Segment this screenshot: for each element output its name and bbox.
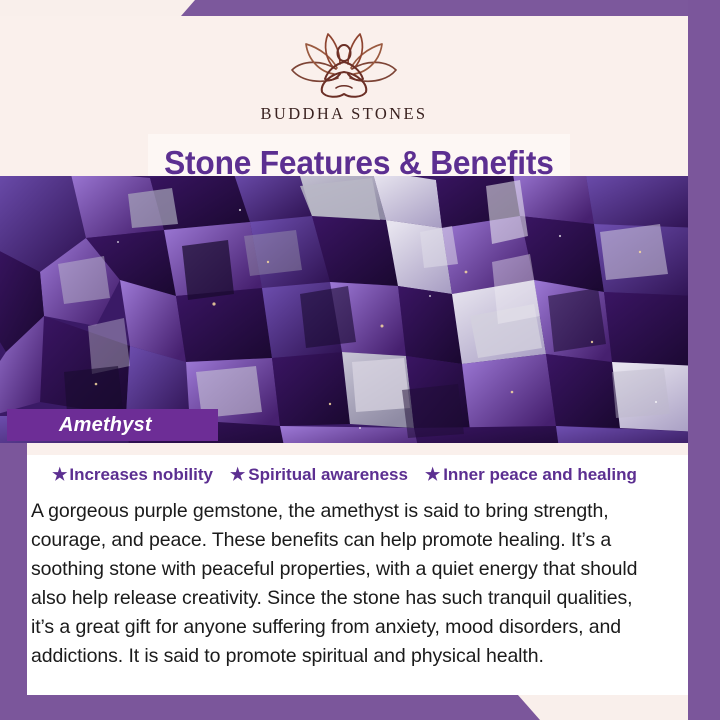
benefit-label: Inner peace and healing: [443, 465, 637, 485]
lotus-meditation-icon: [278, 24, 410, 102]
star-icon: ★: [425, 466, 440, 483]
brand-logo: BUDDHA STONES: [0, 24, 688, 124]
brand-name: BUDDHA STONES: [260, 104, 427, 124]
benefit-item-2: ★ Inner peace and healing: [425, 465, 637, 485]
crystal-cluster-graphic: [0, 176, 688, 443]
stone-name-band: Amethyst: [7, 409, 218, 441]
stone-name: Amethyst: [7, 414, 152, 437]
content-top-strip: [27, 443, 688, 455]
benefit-label: Increases nobility: [69, 465, 213, 485]
content-panel: ★ Increases nobility ★ Spiritual awarene…: [27, 443, 688, 695]
right-purple-band: [688, 0, 720, 720]
bottom-purple-band: [0, 695, 720, 720]
benefit-label: Spiritual awareness: [248, 465, 408, 485]
left-purple-band: [0, 443, 27, 695]
benefits-list: ★ Increases nobility ★ Spiritual awarene…: [27, 465, 688, 485]
top-purple-band: [0, 0, 720, 16]
header: BUDDHA STONES Stone Features & Benefits: [0, 16, 688, 176]
star-icon: ★: [230, 466, 245, 483]
benefit-item-1: ★ Spiritual awareness: [230, 465, 408, 485]
poster-root: BUDDHA STONES Stone Features & Benefits: [0, 0, 720, 720]
stone-description: A gorgeous purple gemstone, the amethyst…: [31, 497, 659, 671]
amethyst-crystal-image: [0, 176, 688, 443]
benefit-item-0: ★ Increases nobility: [52, 465, 213, 485]
star-icon: ★: [52, 466, 67, 483]
